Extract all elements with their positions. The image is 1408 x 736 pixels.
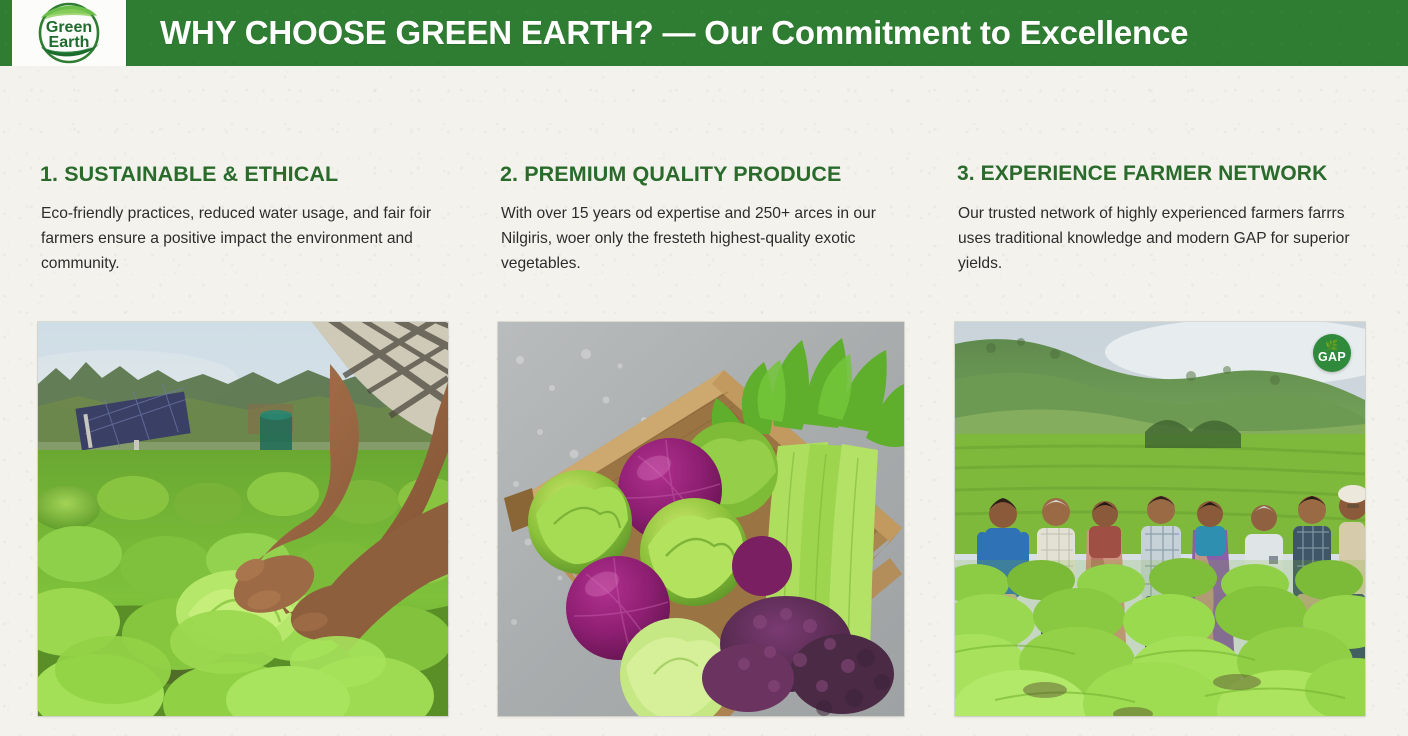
feature-image-2 — [498, 322, 904, 716]
svg-text:Earth: Earth — [49, 34, 90, 51]
feature-image-3: 🌿 GAP — [955, 322, 1365, 716]
gap-certification-badge: 🌿 GAP — [1313, 334, 1351, 372]
page-title: WHY CHOOSE GREEN EARTH? — Our Commitment… — [160, 0, 1188, 66]
slide-page: Green Earth WHY CHOOSE GREEN EARTH? — Ou… — [0, 0, 1408, 736]
leaf-icon: 🌿 — [1325, 342, 1339, 351]
leaf-logo-icon: Green Earth — [21, 2, 117, 64]
farmer-group-illustration — [955, 322, 1365, 716]
feature-columns: 1. SUSTAINABLE & ETHICAL Eco-friendly pr… — [0, 66, 1408, 736]
feature-body-3: Our trusted network of highly experience… — [958, 201, 1353, 276]
farmer-harvesting-illustration — [38, 322, 448, 716]
brand-logo: Green Earth — [12, 0, 126, 66]
feature-heading-1: 1. SUSTAINABLE & ETHICAL — [40, 162, 338, 187]
feature-image-1 — [38, 322, 448, 716]
gap-badge-label: GAP — [1318, 351, 1346, 364]
vegetable-crate-illustration — [498, 322, 904, 716]
feature-body-1: Eco-friendly practices, reduced water us… — [41, 201, 445, 276]
feature-heading-2: 2. PREMIUM QUALITY PRODUCE — [500, 162, 841, 187]
feature-heading-3: 3. EXPERIENCE FARMER NETWORK — [957, 162, 1327, 186]
feature-body-2: With over 15 years od expertise and 250+… — [501, 201, 905, 276]
